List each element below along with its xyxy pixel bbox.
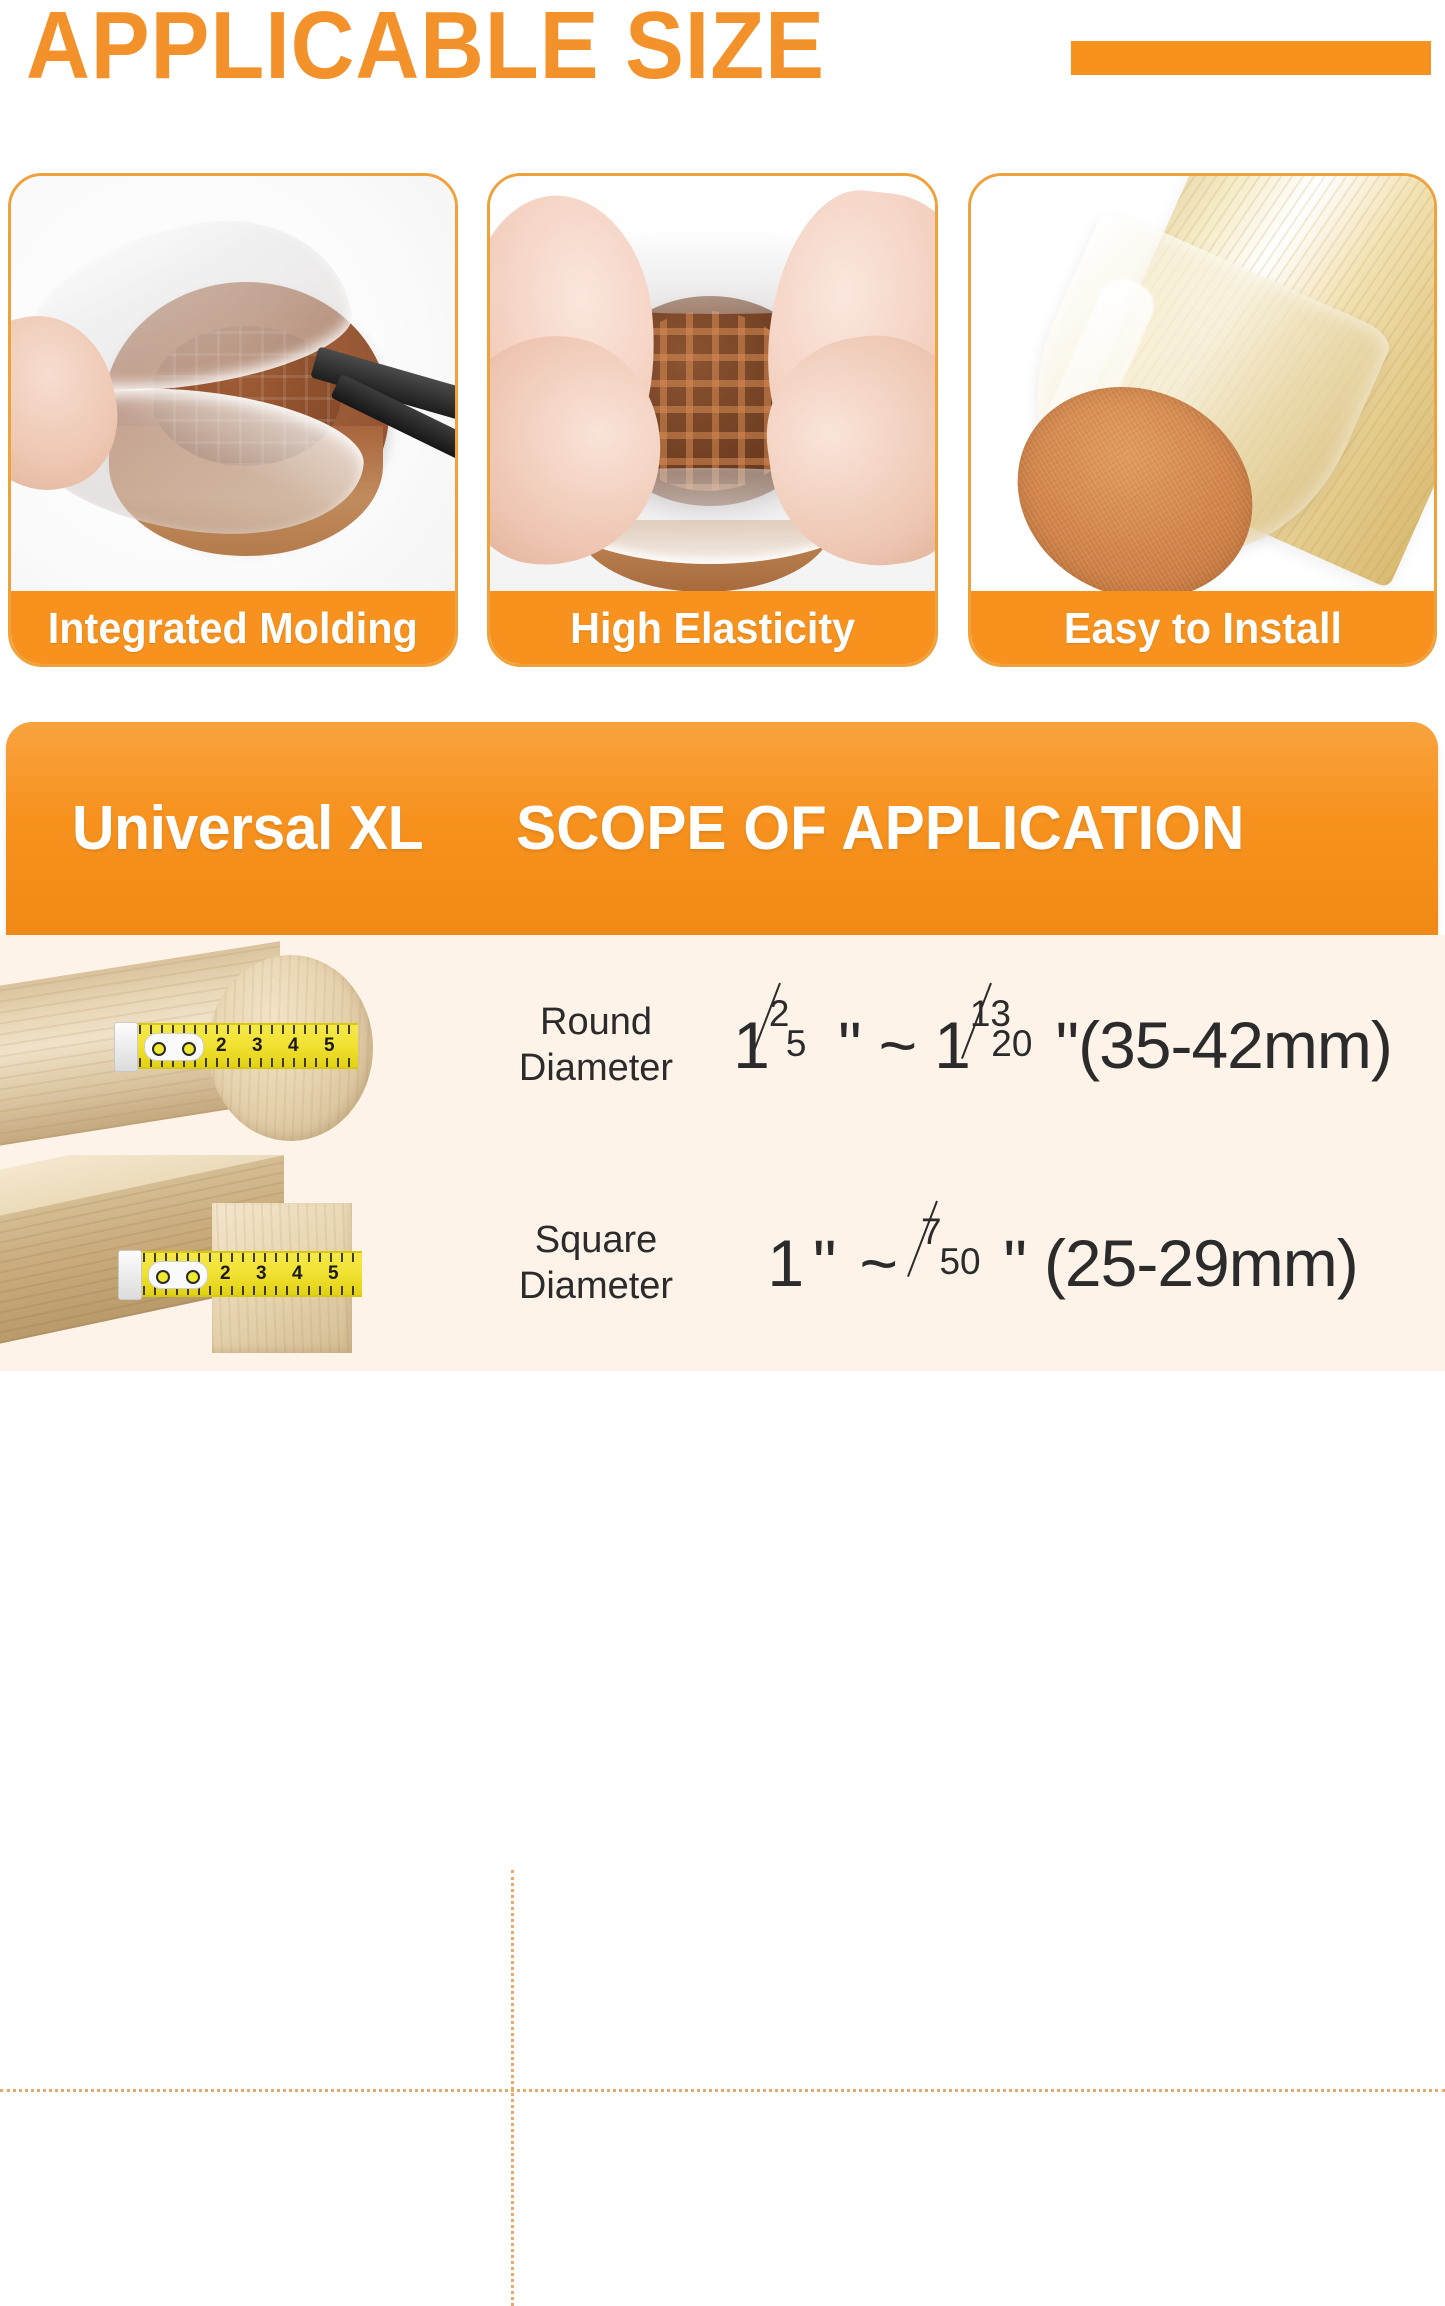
- square-whole-low: 1: [767, 1225, 803, 1301]
- square-diameter-value: 1 " ~ 7 50 " (25-29mm): [690, 1155, 1435, 1371]
- tape-number: 2: [220, 1263, 231, 1285]
- feature-cards-row: Integrated Molding High Elasticity: [0, 173, 1445, 667]
- feature-caption-label: Integrated Molding: [48, 604, 418, 654]
- square-fraction-high: 7 50: [921, 1230, 1004, 1296]
- label-line-1: Square: [535, 1217, 658, 1263]
- title-row: APPLICABLE SIZE: [0, 0, 1445, 100]
- round-whole-high: 1: [934, 1007, 970, 1083]
- square-leg-illustration: 2 3 4 5: [0, 1155, 512, 1371]
- feature-caption-label: Easy to Install: [1063, 604, 1341, 654]
- horizontal-dotted-divider: [0, 2089, 1445, 2092]
- tape-number: 4: [288, 1035, 299, 1057]
- inch-mark: ": [1004, 1225, 1026, 1301]
- tape-measure-round: 2 3 4 5: [128, 1023, 358, 1069]
- round-fraction-high: 13 20: [970, 1012, 1056, 1078]
- label-line-2: Diameter: [519, 1263, 673, 1309]
- scope-title: SCOPE OF APPLICATION: [516, 793, 1244, 864]
- round-leg-illustration: 2 3 4 5: [0, 935, 512, 1155]
- range-tilde: ~: [861, 1007, 935, 1083]
- size-table: 2 3 4 5 Round Diameter 1 2 5 " ~ 1: [0, 935, 1445, 1371]
- high-elasticity-photo: [490, 176, 935, 600]
- fraction-denominator: 20: [991, 1023, 1032, 1065]
- fraction-denominator: 50: [939, 1241, 980, 1283]
- page-title: APPLICABLE SIZE: [26, 0, 825, 96]
- round-fraction-low: 2 5: [769, 1012, 838, 1078]
- tape-measure-square: 2 3 4 5: [132, 1251, 362, 1297]
- fraction-denominator: 5: [786, 1023, 807, 1065]
- square-metric-range: (25-29mm): [1026, 1225, 1358, 1301]
- tape-number: 2: [216, 1035, 227, 1057]
- round-metric-range: (35-42mm): [1078, 1007, 1392, 1083]
- feature-caption-bar: Integrated Molding: [8, 591, 458, 667]
- tape-number: 5: [328, 1263, 339, 1285]
- easy-to-install-photo: [971, 176, 1434, 600]
- label-line-2: Diameter: [519, 1045, 673, 1091]
- feature-caption-bar: Easy to Install: [968, 591, 1437, 667]
- tape-number: 4: [292, 1263, 303, 1285]
- label-line-1: Round: [540, 999, 652, 1045]
- size-row-square: 2 3 4 5 Square Diameter 1 " ~ 7 50 ": [0, 1155, 1445, 1371]
- tape-number: 3: [256, 1263, 267, 1285]
- title-accent-bar: [1071, 41, 1431, 75]
- integrated-molding-photo: [11, 176, 455, 600]
- square-diameter-label: Square Diameter: [512, 1155, 680, 1371]
- round-diameter-value: 1 2 5 " ~ 1 13 20 " (35-42mm): [690, 935, 1435, 1155]
- size-row-round: 2 3 4 5 Round Diameter 1 2 5 " ~ 1: [0, 935, 1445, 1155]
- scope-header-bar: Universal XL SCOPE OF APPLICATION: [6, 722, 1438, 935]
- range-tilde: ~: [835, 1225, 921, 1301]
- round-whole-low: 1: [733, 1007, 769, 1083]
- inch-mark: ": [838, 1007, 860, 1083]
- vertical-dotted-divider: [511, 1870, 514, 2306]
- feature-card-high-elasticity[interactable]: High Elasticity: [487, 173, 938, 667]
- feature-card-easy-to-install[interactable]: Easy to Install: [968, 173, 1437, 667]
- feature-caption-bar: High Elasticity: [487, 591, 938, 667]
- inch-mark: ": [803, 1225, 835, 1301]
- round-diameter-label: Round Diameter: [512, 935, 680, 1155]
- feature-caption-label: High Elasticity: [570, 604, 855, 654]
- feature-card-integrated-molding[interactable]: Integrated Molding: [8, 173, 458, 667]
- scope-model-label: Universal XL: [72, 793, 423, 864]
- tape-number: 5: [324, 1035, 335, 1057]
- inch-mark: ": [1056, 1007, 1078, 1083]
- tape-number: 3: [252, 1035, 263, 1057]
